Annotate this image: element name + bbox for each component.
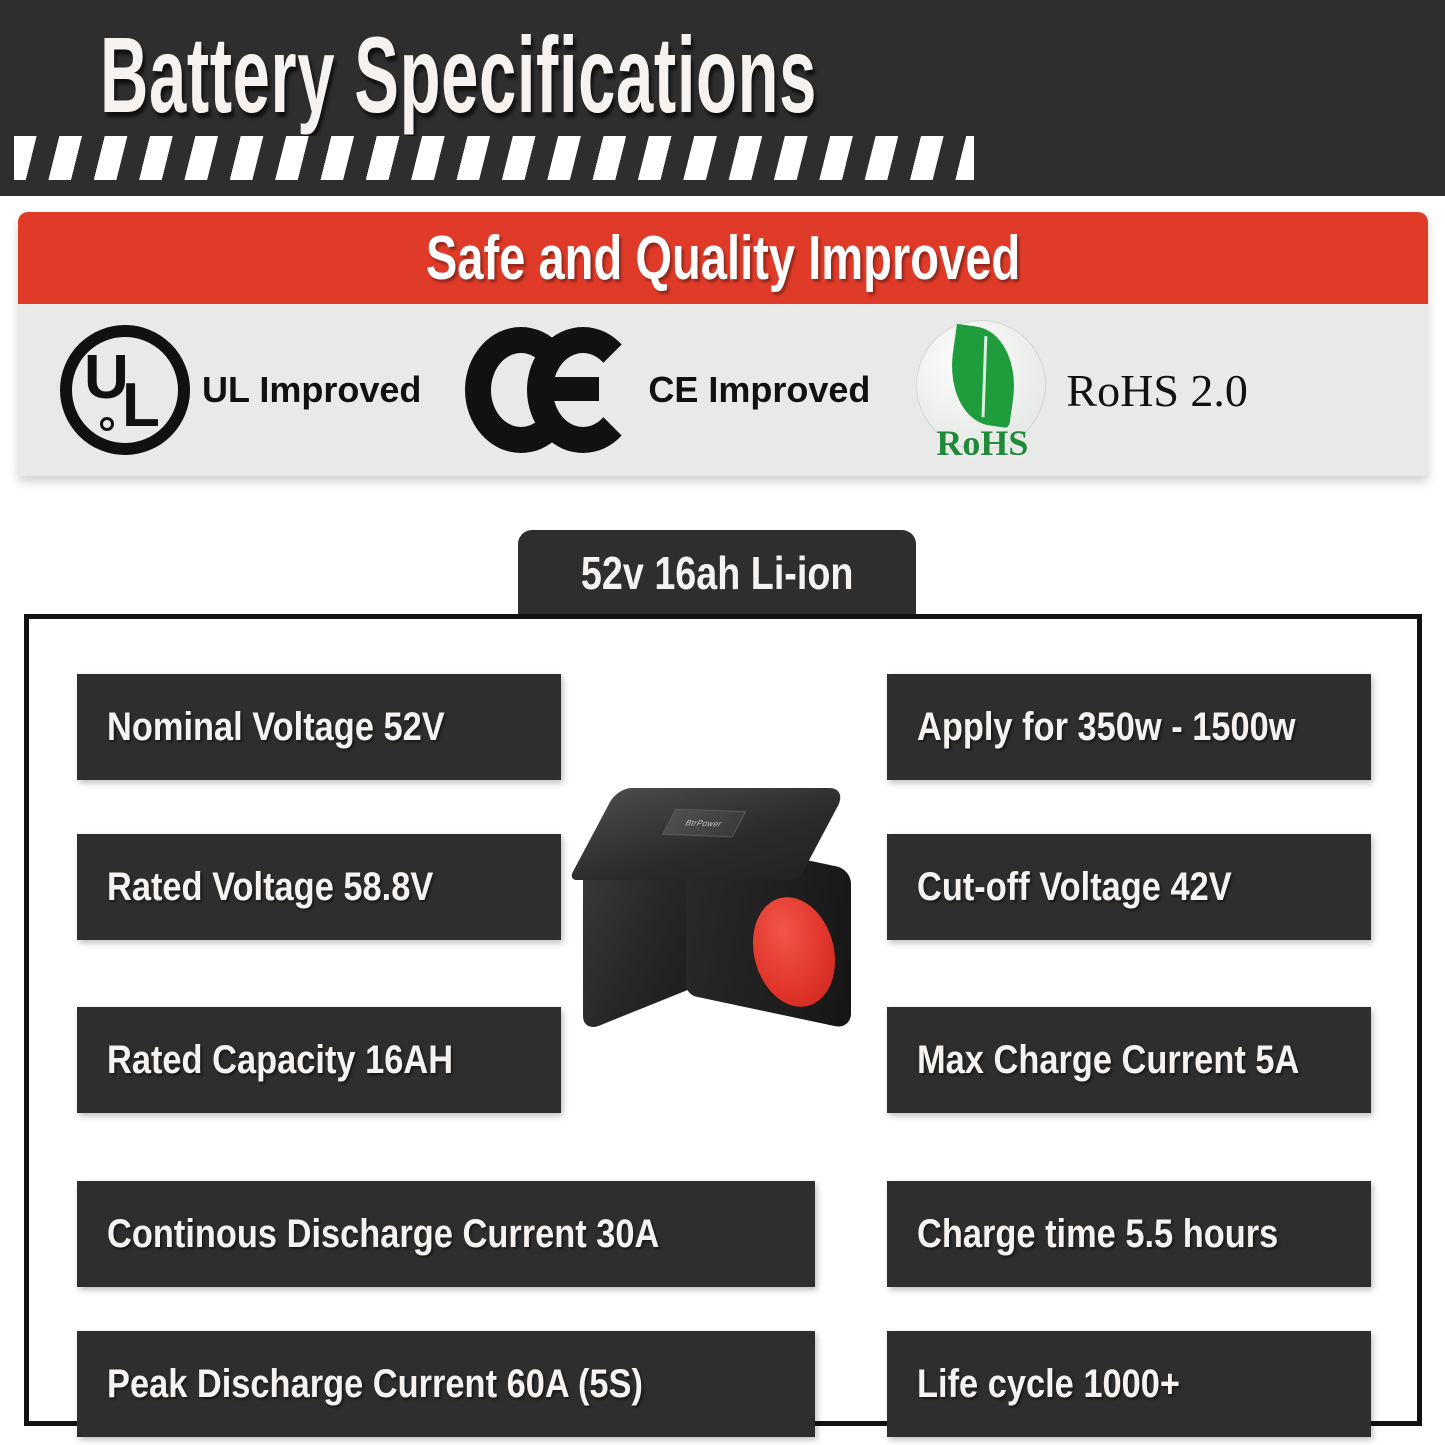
spec-row-nominal-voltage: Nominal Voltage 52V xyxy=(77,674,561,780)
product-title-tab: 52v 16ah Li-ion xyxy=(518,530,916,615)
ce-mark-icon xyxy=(465,327,640,453)
certification-badges-row: U L UL Improved CE Improved xyxy=(18,304,1428,476)
registered-mark-icon xyxy=(100,417,114,431)
rohs-mark-word: RoHS xyxy=(912,422,1052,464)
spec-text-cutoff-voltage: Cut-off Voltage 42V xyxy=(917,865,1232,910)
spec-text-life-cycle: Life cycle 1000+ xyxy=(917,1362,1180,1407)
spec-text-apply-for: Apply for 350w - 1500w xyxy=(917,705,1296,750)
spec-row-charge-time: Charge time 5.5 hours xyxy=(887,1181,1371,1287)
product-title-label: 52v 16ah Li-ion xyxy=(581,546,854,600)
ce-letter-e-bar xyxy=(553,377,599,401)
battery-brand-label: BtrPower xyxy=(662,809,746,838)
page-title: Battery Specifications xyxy=(100,18,817,131)
spec-row-life-cycle: Life cycle 1000+ xyxy=(887,1331,1371,1437)
spec-text-peak-discharge-current: Peak Discharge Current 60A (5S) xyxy=(107,1362,643,1407)
spec-text-rated-capacity: Rated Capacity 16AH xyxy=(107,1038,453,1083)
certification-label-ce: CE Improved xyxy=(648,369,870,411)
certification-item-rohs: RoHS RoHS 2.0 xyxy=(912,320,1247,460)
leaf-vein xyxy=(982,336,988,417)
certification-panel: Safe and Quality Improved U L UL Improve… xyxy=(18,212,1428,476)
certification-banner: Safe and Quality Improved xyxy=(18,212,1428,304)
header-banner: Battery Specifications xyxy=(0,0,1445,196)
certification-item-ul: U L UL Improved xyxy=(60,325,421,455)
certification-label-rohs: RoHS 2.0 xyxy=(1066,364,1247,417)
spec-row-peak-discharge-current: Peak Discharge Current 60A (5S) xyxy=(77,1331,815,1437)
spec-text-max-charge-current: Max Charge Current 5A xyxy=(917,1038,1299,1083)
spec-row-max-charge-current: Max Charge Current 5A xyxy=(887,1007,1371,1113)
ul-letter-l: L xyxy=(122,375,160,437)
diagonal-stripes-decoration xyxy=(14,136,974,180)
battery-product-image: BtrPower xyxy=(575,780,875,1050)
spec-row-cutoff-voltage: Cut-off Voltage 42V xyxy=(887,834,1371,940)
spec-text-rated-voltage: Rated Voltage 58.8V xyxy=(107,865,433,910)
spec-text-charge-time: Charge time 5.5 hours xyxy=(917,1212,1278,1257)
battery-spec-infographic: Battery Specifications Safe and Quality … xyxy=(0,0,1445,1445)
spec-row-continuous-discharge-current: Continous Discharge Current 30A xyxy=(77,1181,815,1287)
ul-logo-icon: U L xyxy=(60,325,190,455)
spec-row-rated-capacity: Rated Capacity 16AH xyxy=(77,1007,561,1113)
spec-text-continuous-discharge-current: Continous Discharge Current 30A xyxy=(107,1212,659,1257)
certification-banner-text: Safe and Quality Improved xyxy=(426,223,1020,294)
rohs-logo-icon: RoHS xyxy=(912,320,1052,460)
spec-row-rated-voltage: Rated Voltage 58.8V xyxy=(77,834,561,940)
spec-text-nominal-voltage: Nominal Voltage 52V xyxy=(107,705,445,750)
certification-item-ce: CE Improved xyxy=(465,327,870,453)
certification-label-ul: UL Improved xyxy=(202,369,421,411)
spec-row-apply-for: Apply for 350w - 1500w xyxy=(887,674,1371,780)
